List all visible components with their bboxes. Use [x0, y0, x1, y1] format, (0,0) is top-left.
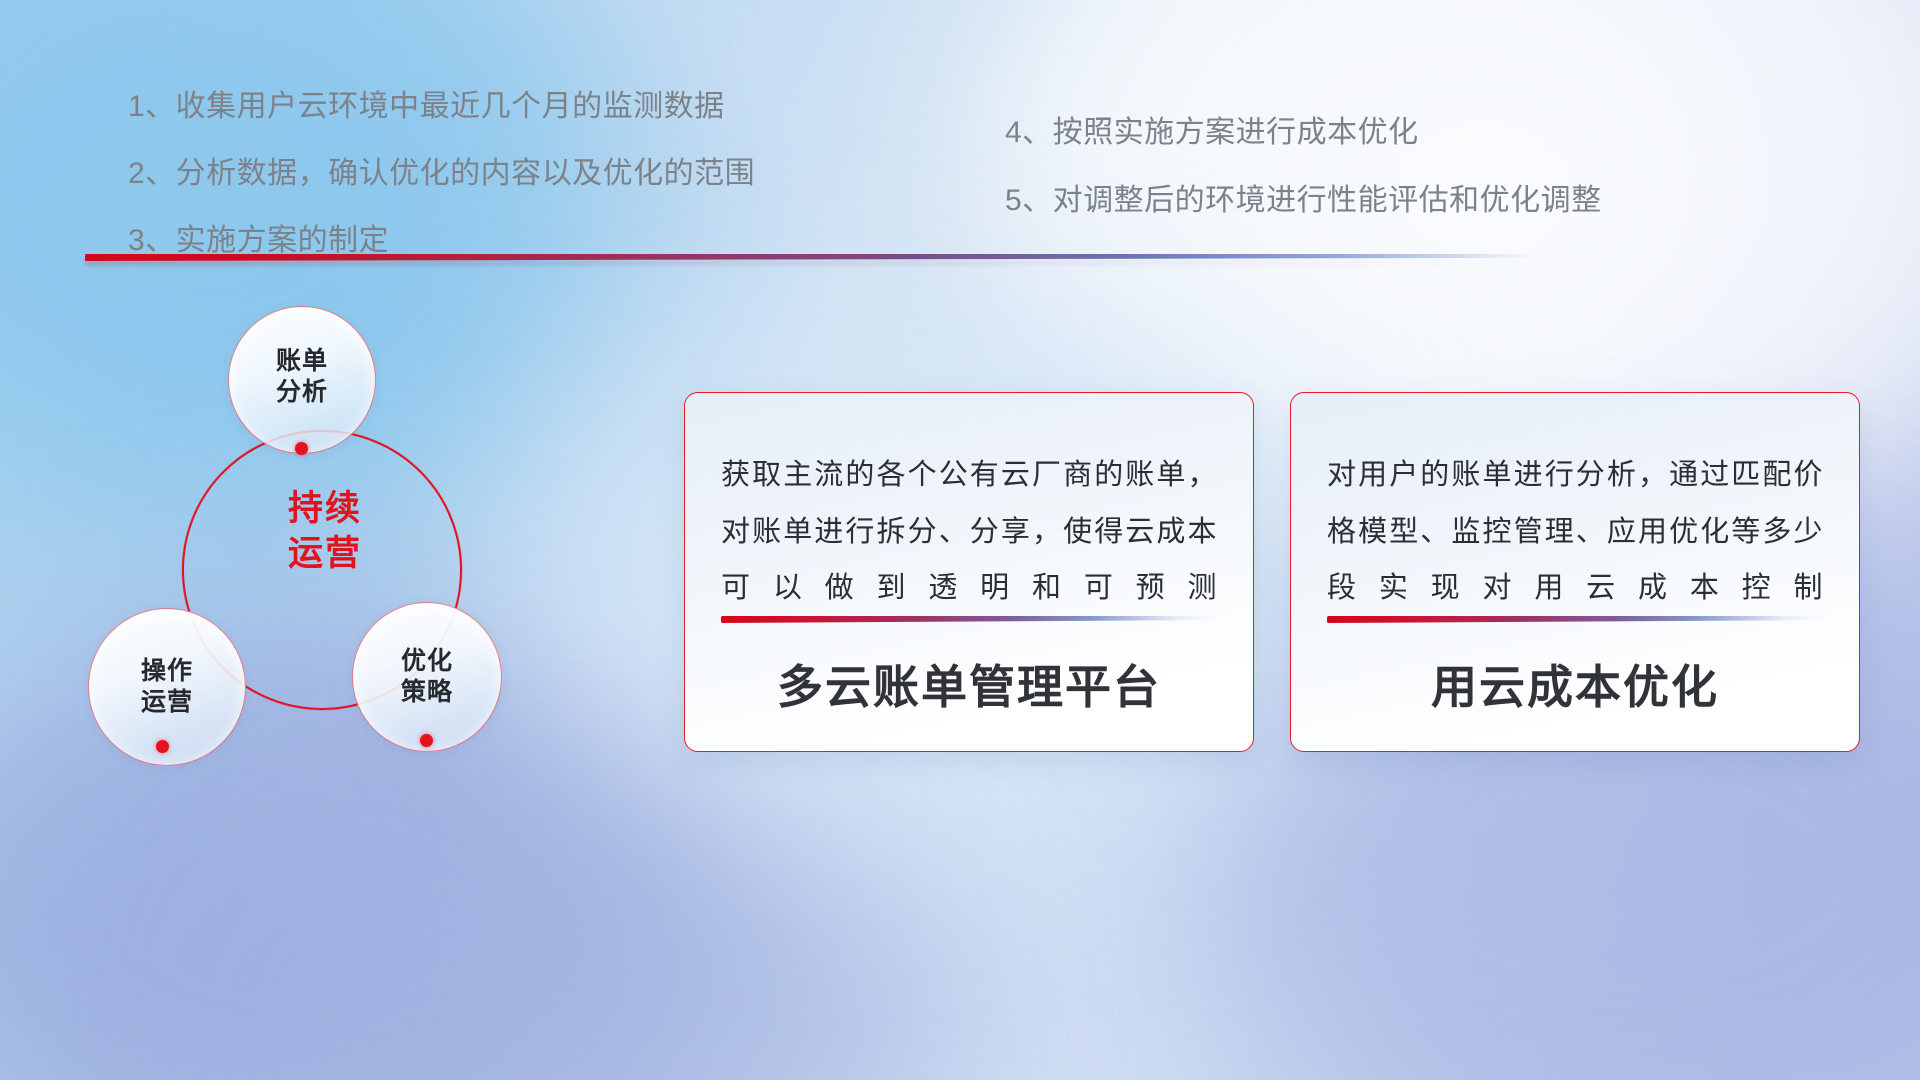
- divider-shadow: [85, 261, 1537, 265]
- diagram-node-dot-top: [295, 442, 308, 455]
- bubble-label-line1: 优化: [401, 646, 453, 677]
- bubble-label-line2: 策略: [401, 677, 453, 708]
- diagram-center-label-line2: 运营: [240, 532, 410, 577]
- step-item-3: 3、实施方案的制定: [128, 226, 755, 256]
- diagram-bubble-bill-analysis[interactable]: 账单 分析: [228, 306, 376, 454]
- card-title: 多云账单管理平台: [685, 651, 1253, 717]
- diagram-center-label-line1: 持续: [240, 487, 410, 532]
- diagram-node-dot-bottom-left: [156, 740, 169, 753]
- bubble-label-line2: 分析: [276, 377, 328, 408]
- bubble-label-line2: 运营: [141, 687, 193, 718]
- bubble-label-optimization-strategy: 优化 策略: [401, 646, 453, 708]
- diagram-bubble-optimization-strategy[interactable]: 优化 策略: [352, 602, 502, 752]
- steps-list: 1、收集用户云环境中最近几个月的监测数据 2、分析数据，确认优化的内容以及优化的…: [0, 0, 1920, 270]
- bubble-label-line1: 账单: [276, 346, 328, 377]
- card-multi-cloud-billing-platform[interactable]: 获取主流的各个公有云厂商的账单，对账单进行拆分、分享，使得云成本可以做到透明和可…: [684, 392, 1254, 752]
- continuous-operation-diagram: 持续 运营 账单 分析 操作 运营 优化 策略: [80, 290, 550, 790]
- diagram-node-dot-bottom-right: [420, 734, 433, 747]
- bubble-label-bill-analysis: 账单 分析: [276, 346, 328, 414]
- step-item-1: 1、收集用户云环境中最近几个月的监测数据: [128, 92, 755, 122]
- bubble-label-line1: 操作: [141, 656, 193, 687]
- step-item-5: 5、对调整后的环境进行性能评估和优化调整: [1005, 186, 1602, 216]
- card-cloud-cost-optimization[interactable]: 对用户的账单进行分析，通过匹配价格模型、监控管理、应用优化等多少段实现对用云成本…: [1290, 392, 1860, 752]
- step-item-4: 4、按照实施方案进行成本优化: [1005, 118, 1602, 148]
- bubble-label-operations: 操作 运营: [141, 656, 193, 718]
- diagram-center-label: 持续 运营: [240, 487, 410, 577]
- background-blob-lower-center: [260, 840, 960, 1080]
- step-item-2: 2、分析数据，确认优化的内容以及优化的范围: [128, 159, 755, 189]
- card-title: 用云成本优化: [1291, 651, 1859, 717]
- card-body-text: 获取主流的各个公有云厂商的账单，对账单进行拆分、分享，使得云成本可以做到透明和可…: [721, 447, 1217, 623]
- steps-right-column: 4、按照实施方案进行成本优化 5、对调整后的环境进行性能评估和优化调整: [1005, 118, 1602, 254]
- slide-canvas: 1、收集用户云环境中最近几个月的监测数据 2、分析数据，确认优化的内容以及优化的…: [0, 0, 1920, 1080]
- card-body-text: 对用户的账单进行分析，通过匹配价格模型、监控管理、应用优化等多少段实现对用云成本…: [1327, 447, 1823, 623]
